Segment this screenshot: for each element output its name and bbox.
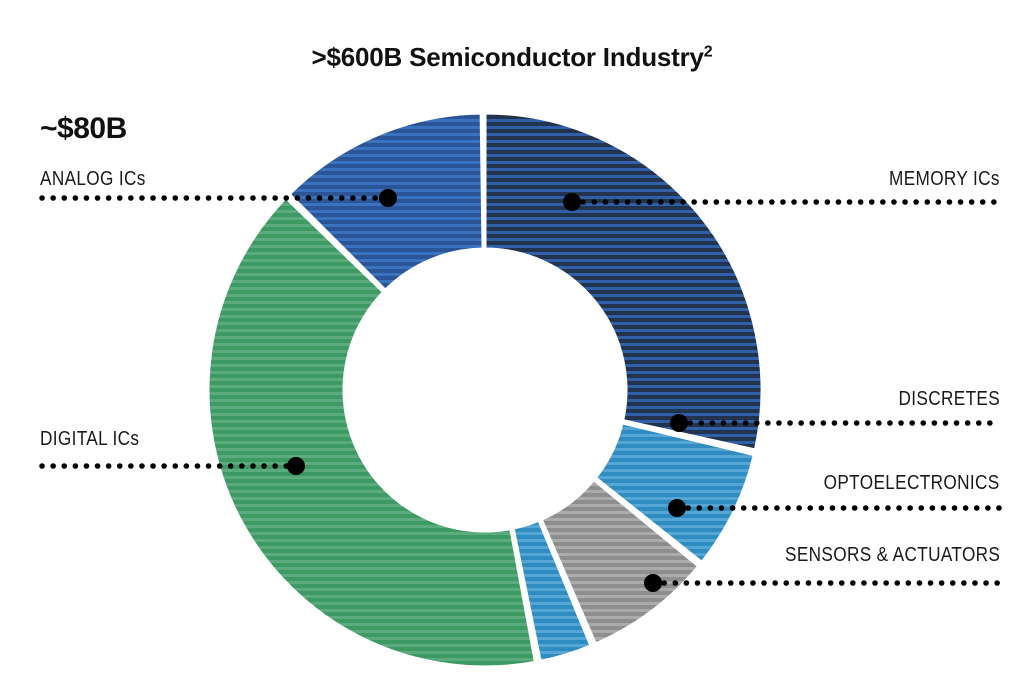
chart-canvas: >$600B Semiconductor Industry2 ~$80B ANA… (0, 0, 1024, 692)
slice-label-digital-ics: DIGITAL ICs (40, 428, 139, 451)
donut-slice-memory-ics[interactable] (485, 113, 762, 450)
slice-label-optoelectronics: OPTOELECTRONICS (824, 472, 1000, 495)
slice-label-memory-ics: MEMORY ICs (889, 168, 1000, 191)
callout-value: ~$80B (40, 112, 127, 146)
slice-label-discretes: DISCRETES (898, 388, 1000, 411)
title-footnote: 2 (704, 43, 713, 60)
slice-label-sensors-actuators: SENSORS & ACTUATORS (785, 544, 1000, 567)
title-text: >$600B Semiconductor Industry (312, 42, 704, 72)
donut-chart (0, 0, 1024, 692)
slice-label-analog-ics: ANALOG ICs (40, 168, 146, 191)
page-title: >$600B Semiconductor Industry2 (0, 42, 1024, 73)
